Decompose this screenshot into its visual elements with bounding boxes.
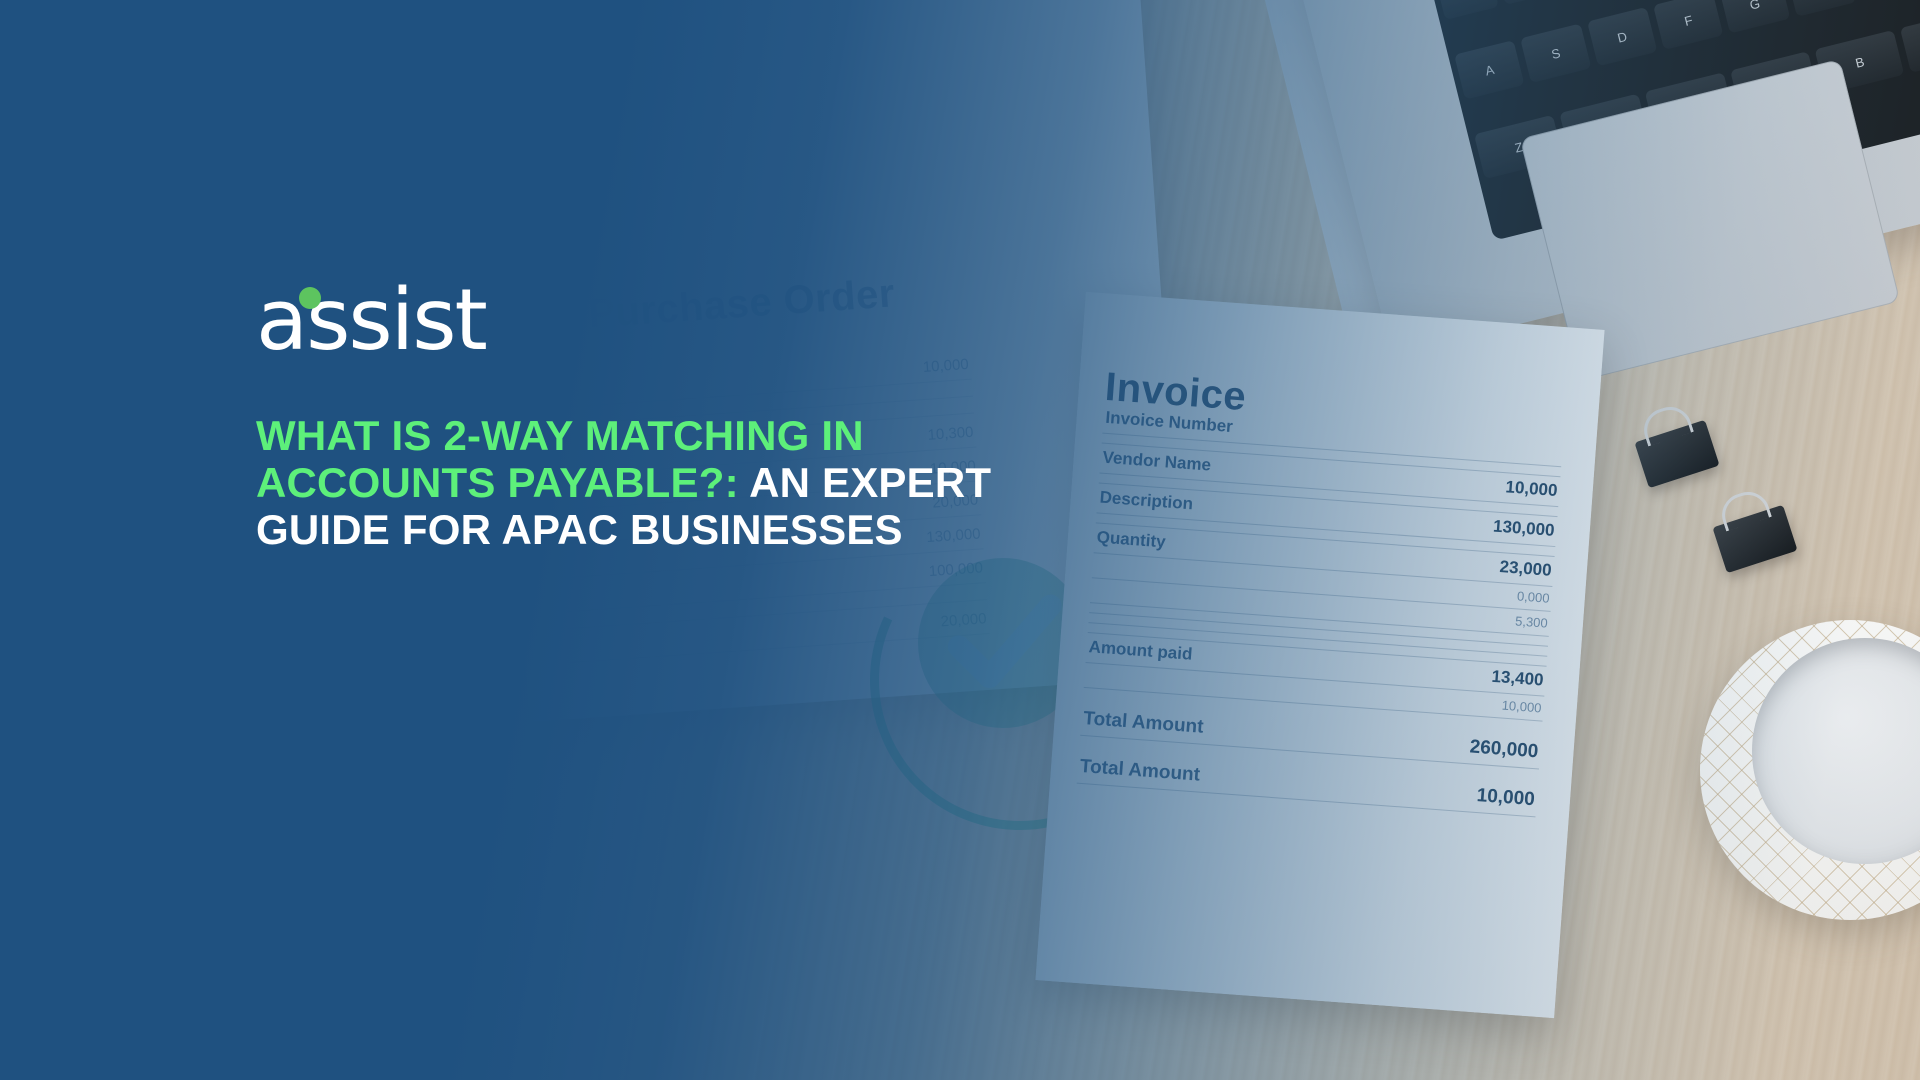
hero-banner: QWERTYUIOPASDFGHJKLZXCVBNM Purchase Orde…: [0, 0, 1920, 1080]
hero-content: assist WHAT IS 2-WAY MATCHING IN ACCOUNT…: [256, 280, 1076, 553]
green-dot-icon: [299, 287, 321, 309]
page-title: WHAT IS 2-WAY MATCHING IN ACCOUNTS PAYAB…: [256, 412, 1046, 553]
logo-wordmark: assist: [256, 282, 486, 360]
assist-logo[interactable]: assist: [256, 280, 1076, 360]
